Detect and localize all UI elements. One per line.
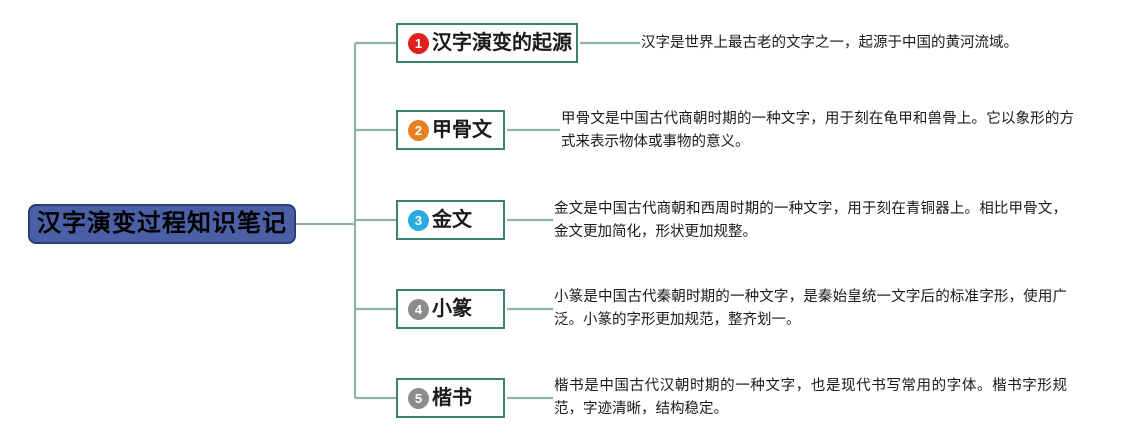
branch-node-5[interactable]: 5 楷书 [396, 378, 505, 418]
branch-badge-4: 4 [408, 299, 429, 320]
root-node[interactable]: 汉字演变过程知识笔记 [28, 204, 296, 244]
branch-description-1: 汉字是世界上最古老的文字之一，起源于中国的黄河流域。 [641, 32, 1073, 55]
root-node-label: 汉字演变过程知识笔记 [37, 212, 287, 236]
branch-node-2[interactable]: 2 甲骨文 [396, 110, 505, 150]
branch-label-5: 楷书 [432, 388, 472, 408]
branch-node-3[interactable]: 3 金文 [396, 200, 505, 240]
branch-description-5: 楷书是中国古代汉朝时期的一种文字，也是现代书写常用的字体。楷书字形规范，字迹清晰… [554, 375, 1067, 422]
branch-description-2: 甲骨文是中国古代商朝时期的一种文字，用于刻在龟甲和兽骨上。它以象形的方式来表示物… [561, 108, 1074, 155]
branch-node-1[interactable]: 1 汉字演变的起源 [396, 23, 578, 63]
branch-description-4: 小篆是中国古代秦朝时期的一种文字，是秦始皇统一文字后的标准字形，使用广泛。小篆的… [554, 286, 1067, 333]
branch-label-2: 甲骨文 [432, 120, 492, 140]
branch-label-4: 小篆 [432, 299, 472, 319]
branch-description-3: 金文是中国古代商朝和西周时期的一种文字，用于刻在青铜器上。相比甲骨文，金文更加简… [554, 198, 1067, 245]
branch-node-4[interactable]: 4 小篆 [396, 289, 505, 329]
mindmap-canvas: 汉字演变过程知识笔记 1 汉字演变的起源 汉字是世界上最古老的文字之一，起源于中… [0, 0, 1131, 446]
branch-label-3: 金文 [432, 210, 472, 230]
branch-label-1: 汉字演变的起源 [432, 33, 572, 53]
branch-badge-2: 2 [408, 120, 429, 141]
branch-badge-1: 1 [408, 33, 429, 54]
branch-badge-3: 3 [408, 210, 429, 231]
branch-badge-5: 5 [408, 388, 429, 409]
